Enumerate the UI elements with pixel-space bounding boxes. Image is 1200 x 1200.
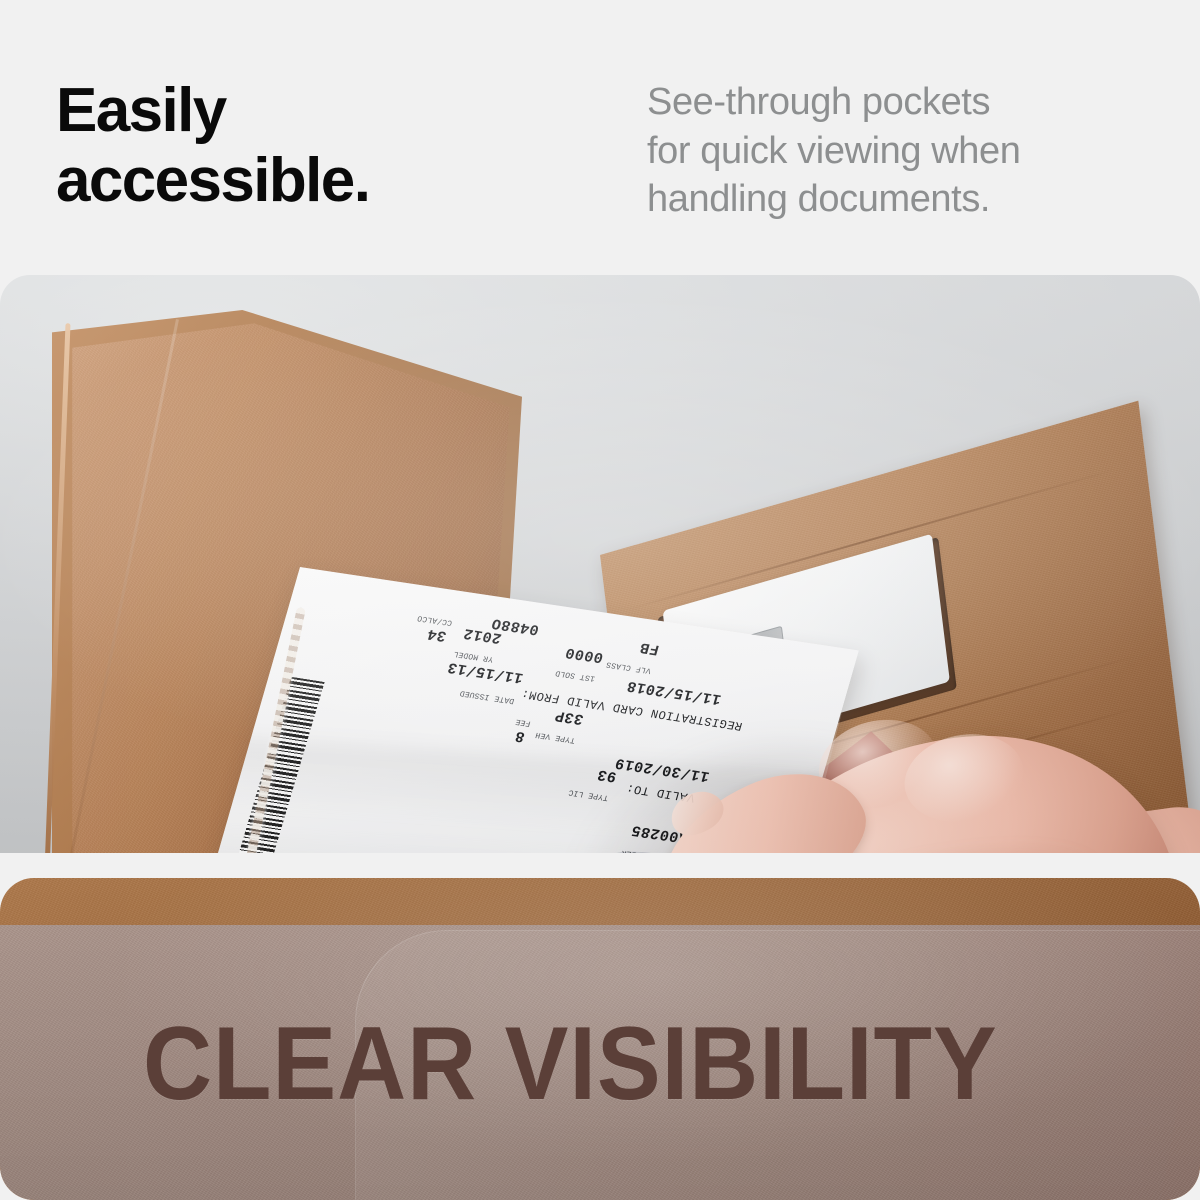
- document-line: 1ST SOLD: [554, 668, 596, 683]
- document-line: TYPE VEH: [534, 730, 576, 745]
- document-line: 0000: [563, 643, 605, 665]
- page-subtitle: See-through pockets for quick viewing wh…: [647, 78, 1117, 224]
- document-line: DATE ISSUED: [459, 688, 516, 705]
- document-line: 33P: [553, 707, 586, 728]
- document-line: 8: [513, 727, 527, 745]
- header-text-block: Easily accessible. See-through pockets f…: [0, 0, 1200, 275]
- document-line: TYPE LIC: [567, 787, 609, 802]
- document-line: FB: [638, 638, 662, 657]
- banner-title: CLEAR VISIBILITY: [143, 1012, 998, 1116]
- product-photo-panel: ** TITLE INFO NOT TRANSFERABLE ****NO CO…: [0, 275, 1200, 853]
- page-title: Easily accessible.: [56, 76, 616, 216]
- document-line: 34: [425, 625, 449, 644]
- hand: [618, 675, 1200, 853]
- product-feature-page: Easily accessible. See-through pockets f…: [0, 0, 1200, 1200]
- document-line: VLF CLASS: [605, 659, 652, 674]
